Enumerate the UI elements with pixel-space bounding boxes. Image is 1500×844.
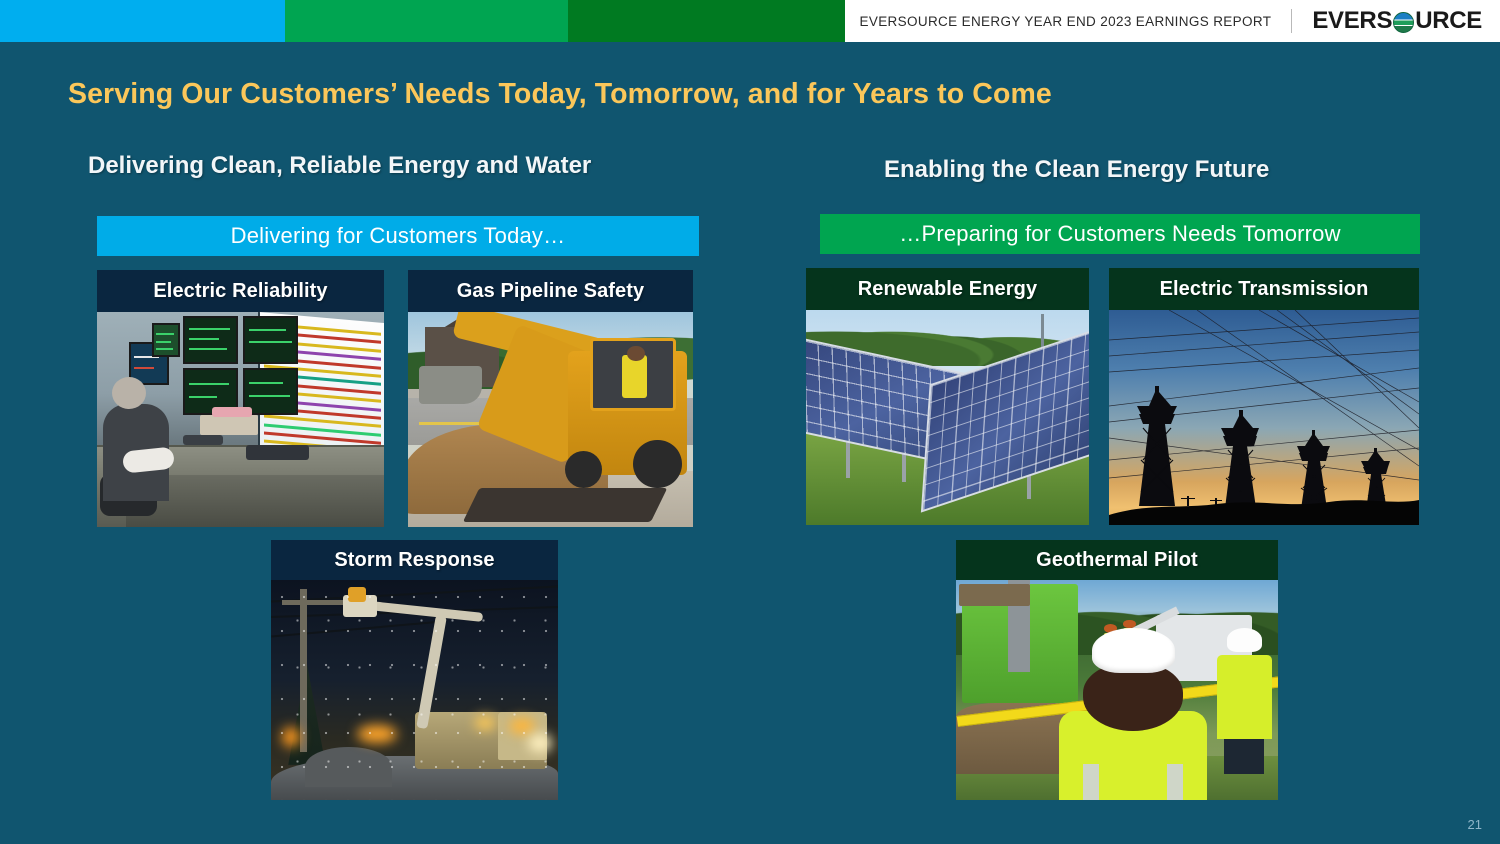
photo-control-room-operator-monitors [97,312,384,527]
photo-solar-panel-array-field [806,310,1089,525]
logo-text-right: URCE [1415,7,1482,35]
photo-backhoe-trenching-street [408,312,693,527]
worker-foreground [1059,628,1207,800]
card-gas-pipeline-safety[interactable]: Gas Pipeline Safety [408,270,693,527]
top-bar-segment-green [285,0,568,42]
worker-right [1217,628,1272,773]
banner-today: Delivering for Customers Today… [97,216,699,256]
card-storm-response[interactable]: Storm Response [271,540,558,800]
card-title-electric-transmission: Electric Transmission [1109,268,1419,310]
report-title-text: EVERSOURCE ENERGY YEAR END 2023 EARNINGS… [859,14,1271,29]
photo-geothermal-drilling-crew: CAUTION [956,580,1278,800]
card-electric-reliability[interactable]: Electric Reliability [97,270,384,527]
card-title-electric-reliability: Electric Reliability [97,270,384,312]
photo-transmission-towers-sunset [1109,310,1419,525]
globe-icon [1393,12,1414,33]
card-renewable-energy[interactable]: Renewable Energy [806,268,1089,525]
header-divider [1291,9,1292,33]
top-bar-segment-cyan [0,0,285,42]
photo-bucket-truck-snowstorm-night [271,580,558,800]
column-heading-left: Delivering Clean, Reliable Energy and Wa… [88,152,591,180]
top-color-bar: EVERSOURCE ENERGY YEAR END 2023 EARNINGS… [0,0,1500,42]
logo-text-left: EVERS [1312,7,1392,35]
page-number: 21 [1468,817,1482,832]
card-geothermal-pilot[interactable]: Geothermal Pilot CAUTION [956,540,1278,800]
top-bar-segment-dark-green [568,0,845,42]
card-title-geothermal-pilot: Geothermal Pilot [956,540,1278,580]
eversource-logo: EVERS URCE [1312,7,1482,35]
slide-title: Serving Our Customers’ Needs Today, Tomo… [68,78,1052,111]
card-title-gas-pipeline-safety: Gas Pipeline Safety [408,270,693,312]
card-title-storm-response: Storm Response [271,540,558,580]
banner-tomorrow: …Preparing for Customers Needs Tomorrow [820,214,1420,254]
card-electric-transmission[interactable]: Electric Transmission [1109,268,1419,525]
column-heading-right: Enabling the Clean Energy Future [884,156,1269,184]
card-title-renewable-energy: Renewable Energy [806,268,1089,310]
report-header-bar: EVERSOURCE ENERGY YEAR END 2023 EARNINGS… [845,0,1500,42]
